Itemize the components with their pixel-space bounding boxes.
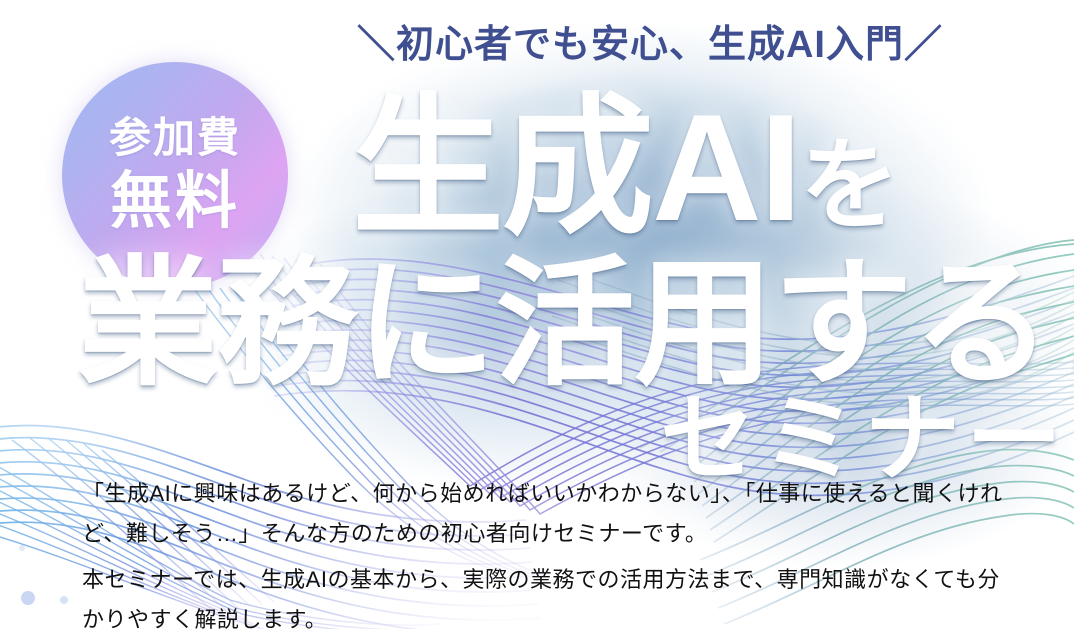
body-paragraph-2: 本セミナーでは、生成AIの基本から、実際の業務での活用方法まで、専門知識がなくて… [82, 560, 1012, 629]
decorative-dot-3 [19, 545, 25, 551]
body-copy: 「生成AIに興味はあるけど、何から始めればいいかわからない」、「仕事に使えると聞… [82, 474, 1012, 629]
badge-label-fee: 参加費 [109, 117, 241, 159]
decorative-dot-2 [60, 596, 68, 604]
badge-label-free: 無料 [110, 171, 240, 233]
decorative-dot-1 [21, 591, 35, 605]
body-paragraph-1: 「生成AIに興味はあるけど、何から始めればいいかわからない」、「仕事に使えると聞… [82, 474, 1012, 554]
tagline: ＼初心者でも安心、生成AI入門／ [340, 26, 960, 66]
seminar-banner: 参加費 無料 ＼初心者でも安心、生成AI入門／ 生成AIを 業務に活用する！ セ… [0, 0, 1074, 629]
free-admission-badge: 参加費 無料 [62, 62, 288, 288]
